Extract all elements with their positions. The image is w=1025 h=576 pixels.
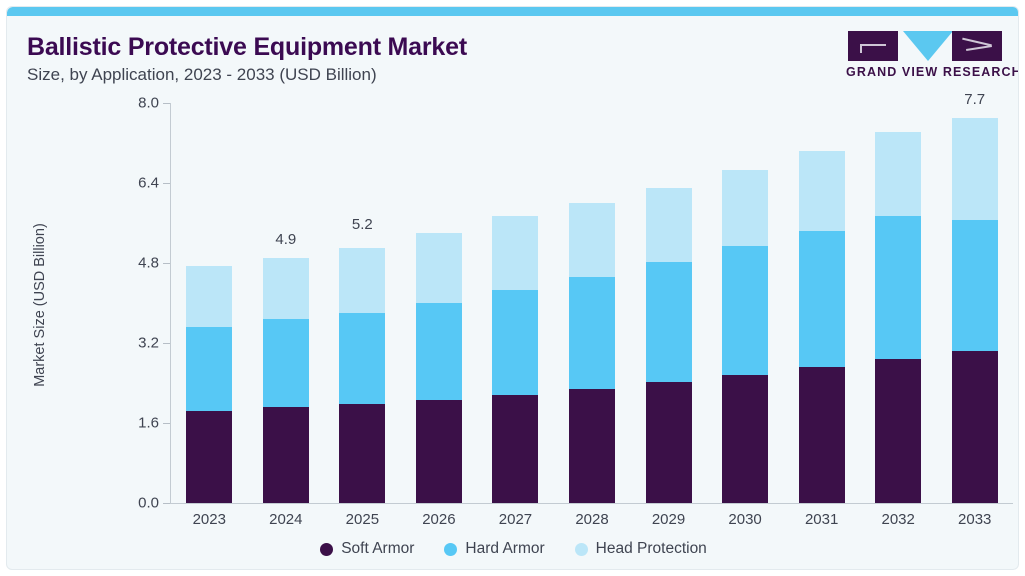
x-axis-tick-label: 2028: [552, 511, 632, 528]
bar-group[interactable]: [416, 233, 462, 503]
bar-segment-hard-armor[interactable]: [339, 313, 385, 405]
bar-segment-soft-armor[interactable]: [799, 367, 845, 503]
bar-group[interactable]: [569, 203, 615, 503]
bar-group[interactable]: [263, 258, 309, 503]
x-axis-tick-label: 2025: [322, 511, 402, 528]
bar-segment-hard-armor[interactable]: [875, 216, 921, 359]
x-axis-line: [170, 503, 1013, 504]
bar-group[interactable]: [722, 170, 768, 504]
x-axis-tick-label: 2030: [705, 511, 785, 528]
chart-card: Ballistic Protective Equipment Market Si…: [6, 6, 1019, 570]
legend-label: Hard Armor: [465, 540, 544, 558]
bar-group[interactable]: [875, 132, 921, 504]
y-axis-tick-label: 6.4: [103, 175, 159, 192]
legend-color-swatch-icon: [444, 543, 457, 556]
bar-group[interactable]: [492, 216, 538, 504]
bar-segment-head-protection[interactable]: [416, 233, 462, 303]
chart-page: Ballistic Protective Equipment Market Si…: [0, 0, 1025, 576]
bar-segment-soft-armor[interactable]: [646, 382, 692, 503]
bar-segment-hard-armor[interactable]: [186, 327, 232, 411]
bar-segment-hard-armor[interactable]: [492, 290, 538, 395]
bar-segment-hard-armor[interactable]: [569, 277, 615, 390]
x-axis-tick-label: 2027: [475, 511, 555, 528]
chart-plot-area: Market Size (USD Billion) 0.01.63.24.86.…: [7, 7, 1019, 570]
bar-series-container: 4.95.27.7: [171, 103, 1013, 503]
bar-segment-head-protection[interactable]: [799, 151, 845, 231]
bar-segment-head-protection[interactable]: [875, 132, 921, 217]
bar-segment-soft-armor[interactable]: [952, 351, 998, 504]
x-axis-tick-label: 2031: [782, 511, 862, 528]
bar-segment-soft-armor[interactable]: [263, 407, 309, 503]
y-axis-tick-label: 0.0: [103, 495, 159, 512]
legend-color-swatch-icon: [575, 543, 588, 556]
x-axis-tick-label: 2026: [399, 511, 479, 528]
y-axis-tick-label: 3.2: [103, 335, 159, 352]
x-axis-tick-label: 2032: [858, 511, 938, 528]
y-axis-tick-label: 8.0: [103, 95, 159, 112]
bar-segment-head-protection[interactable]: [492, 216, 538, 290]
x-axis-tick-label: 2033: [935, 511, 1015, 528]
bar-segment-soft-armor[interactable]: [492, 395, 538, 504]
bar-segment-hard-armor[interactable]: [952, 220, 998, 351]
bar-segment-hard-armor[interactable]: [799, 231, 845, 368]
bar-segment-head-protection[interactable]: [952, 118, 998, 220]
bar-segment-soft-armor[interactable]: [339, 404, 385, 503]
bar-segment-head-protection[interactable]: [263, 258, 309, 319]
bar-segment-head-protection[interactable]: [339, 248, 385, 313]
bar-segment-soft-armor[interactable]: [186, 411, 232, 504]
bar-group[interactable]: [799, 151, 845, 504]
x-axis-tick-label: 2029: [629, 511, 709, 528]
y-axis-tick-label: 1.6: [103, 415, 159, 432]
bar-segment-hard-armor[interactable]: [722, 246, 768, 375]
chart-legend: Soft ArmorHard ArmorHead Protection: [7, 540, 1019, 558]
bar-group[interactable]: [339, 248, 385, 503]
bar-group[interactable]: [186, 266, 232, 504]
bar-segment-soft-armor[interactable]: [416, 400, 462, 503]
bar-value-label: 4.9: [251, 231, 321, 248]
legend-color-swatch-icon: [320, 543, 333, 556]
bar-segment-hard-armor[interactable]: [263, 319, 309, 407]
bar-segment-soft-armor[interactable]: [722, 375, 768, 504]
y-axis-tick-label: 4.8: [103, 255, 159, 272]
bar-group[interactable]: [646, 188, 692, 503]
bar-segment-head-protection[interactable]: [722, 170, 768, 247]
bar-segment-hard-armor[interactable]: [646, 262, 692, 382]
bar-value-label: 5.2: [327, 216, 397, 233]
bar-group[interactable]: [952, 118, 998, 503]
bar-segment-head-protection[interactable]: [186, 266, 232, 327]
legend-item[interactable]: Head Protection: [575, 540, 707, 558]
legend-item[interactable]: Hard Armor: [444, 540, 544, 558]
y-axis-title: Market Size (USD Billion): [32, 180, 48, 430]
bar-segment-soft-armor[interactable]: [875, 359, 921, 503]
x-axis-tick-label: 2023: [169, 511, 249, 528]
legend-label: Head Protection: [596, 540, 707, 558]
bar-segment-hard-armor[interactable]: [416, 303, 462, 400]
bar-segment-head-protection[interactable]: [569, 203, 615, 277]
bar-value-label: 7.7: [940, 91, 1010, 108]
legend-item[interactable]: Soft Armor: [320, 540, 414, 558]
bar-segment-head-protection[interactable]: [646, 188, 692, 262]
x-axis-tick-label: 2024: [246, 511, 326, 528]
legend-label: Soft Armor: [341, 540, 414, 558]
bar-segment-soft-armor[interactable]: [569, 389, 615, 503]
